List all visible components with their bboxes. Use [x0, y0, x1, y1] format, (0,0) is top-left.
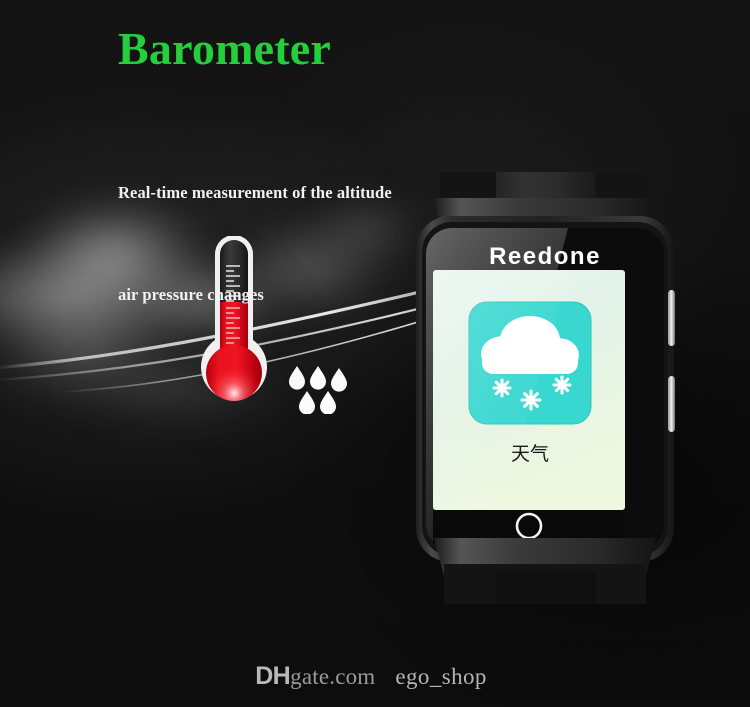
watermark-brand-rest: gate.com — [290, 664, 375, 689]
smartwatch: Reedone — [400, 172, 690, 604]
watermark-brand-bold: DH — [255, 662, 290, 690]
watch-brand-label: Reedone — [489, 243, 601, 270]
side-button-bottom — [668, 376, 675, 432]
side-button-top — [668, 290, 675, 346]
subtitle-line-2: air pressure changes — [118, 278, 392, 312]
subtitle-line-1: Real-time measurement of the altitude — [118, 176, 392, 210]
page-title: Barometer — [118, 26, 331, 72]
watermark: DHgate.com ego_shop — [0, 662, 750, 691]
watermark-shop-name: ego_shop — [395, 664, 486, 689]
product-banner: Reedone — [0, 0, 750, 707]
page-subtitle: Real-time measurement of the altitude ai… — [118, 108, 392, 380]
